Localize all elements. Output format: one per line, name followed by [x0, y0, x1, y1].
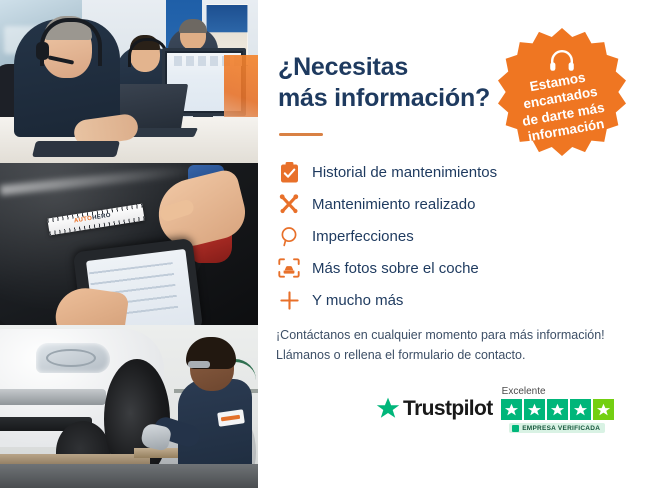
magnifier-icon	[272, 226, 306, 247]
promo-poster: AUTOHERO	[0, 0, 650, 488]
trustpilot-star	[570, 399, 591, 420]
car-bumper	[0, 389, 106, 405]
page-title-line-2: más información?	[278, 83, 508, 114]
photo-autohero-ruler-car-inspection-tablet: AUTOHERO	[0, 163, 258, 326]
verified-check-icon	[512, 425, 519, 432]
feature-label: Mantenimiento realizado	[306, 196, 475, 213]
feature-label: Y mucho más	[306, 292, 403, 309]
photo-call-center-agents-with-headsets	[0, 0, 258, 163]
verified-company-badge: EMPRESA VERIFICADA	[509, 423, 605, 433]
feature-item-fotos: Más fotos sobre el coche	[272, 252, 612, 284]
feature-label: Más fotos sobre el coche	[306, 260, 479, 277]
trustpilot-stars	[501, 399, 614, 420]
page-title-line-1: ¿Necesitas	[278, 52, 508, 83]
contact-paragraph: ¡Contáctanos en cualquier momento para m…	[276, 325, 636, 366]
feature-label: Imperfecciones	[306, 228, 414, 245]
page-title: ¿Necesitas más información?	[278, 52, 508, 115]
contact-line-1: ¡Contáctanos en cualquier momento para m…	[276, 325, 636, 345]
feature-item-historial: Historial de mantenimientos	[272, 156, 612, 188]
mechanic-safety-glasses	[188, 361, 210, 368]
promo-badge: Estamos encantados de darte más informac…	[498, 28, 626, 156]
trustpilot-rating-label: Excelente	[501, 386, 546, 397]
trustpilot-score-block: Excelente	[501, 386, 614, 433]
feature-list: Historial de mantenimientos Mantenimient…	[272, 156, 612, 316]
trustpilot-rating[interactable]: Trustpilot Excelente	[376, 386, 614, 433]
car-headlight	[36, 343, 110, 373]
photo-mechanic-inspecting-white-car-on-lift	[0, 325, 258, 488]
trustpilot-star-icon	[376, 397, 400, 420]
agent-1-headset-earcup	[36, 42, 49, 60]
tools-cross-icon	[272, 193, 306, 215]
agent-3-hair	[179, 19, 207, 33]
trustpilot-star-partial	[593, 399, 614, 420]
verified-company-label: EMPRESA VERIFICADA	[522, 425, 600, 432]
content-panel: ¿Necesitas más información? Estamos enca…	[258, 0, 650, 488]
trustpilot-wordmark: Trustpilot	[403, 397, 493, 421]
trustpilot-star	[524, 399, 545, 420]
clipboard-check-icon	[272, 162, 306, 183]
photo-column: AUTOHERO	[0, 0, 258, 488]
plus-icon	[272, 290, 306, 311]
title-divider	[279, 133, 323, 136]
feature-item-mantenimiento: Mantenimiento realizado	[272, 188, 612, 220]
feature-label: Historial de mantenimientos	[306, 164, 497, 181]
contact-line-2: Llámanos o rellena el formulario de cont…	[276, 345, 636, 365]
trustpilot-star	[547, 399, 568, 420]
feature-item-mucho-mas: Y mucho más	[272, 284, 612, 316]
garage-floor	[0, 464, 258, 488]
feature-item-imperfecciones: Imperfecciones	[272, 220, 612, 252]
trustpilot-logo: Trustpilot	[376, 397, 493, 423]
trustpilot-star	[501, 399, 522, 420]
car-photo-frame-icon	[272, 258, 306, 278]
desk-keyboard	[32, 141, 120, 157]
